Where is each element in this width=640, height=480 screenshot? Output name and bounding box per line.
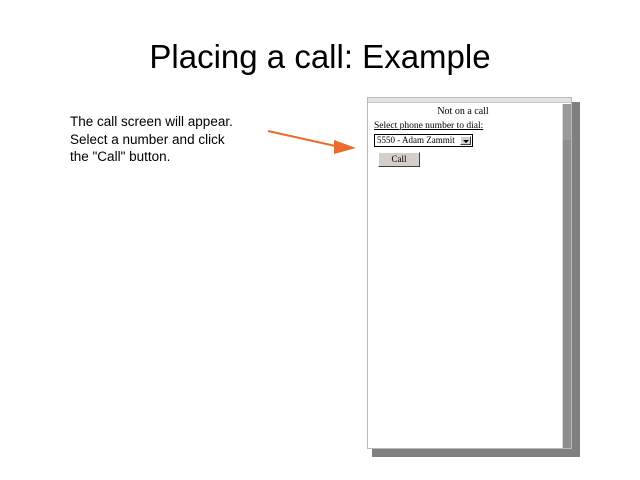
phone-number-select[interactable]: 5550 - Adam Zammit	[374, 134, 473, 147]
page-title: Placing a call: Example	[0, 38, 640, 76]
pointer-arrow-icon	[262, 118, 372, 160]
presentation-slide: Placing a call: Example The call screen …	[0, 0, 640, 480]
screenshot-shadow-right	[572, 102, 580, 457]
call-button[interactable]: Call	[378, 152, 420, 167]
body-text-line-3: the "Call" button.	[70, 148, 270, 166]
vertical-scrollbar[interactable]	[562, 104, 571, 448]
screenshot-shadow-bottom	[372, 449, 577, 457]
scrollbar-thumb[interactable]	[563, 104, 571, 140]
browser-toolbar	[368, 98, 571, 103]
call-page-content: Not on a call Select phone number to dia…	[368, 104, 562, 448]
embedded-app-screenshot: Not on a call Select phone number to dia…	[367, 97, 572, 449]
phone-number-selected-value: 5550 - Adam Zammit	[377, 135, 455, 145]
body-text-line-1: The call screen will appear.	[70, 113, 270, 131]
dial-number-label: Select phone number to dial:	[374, 121, 562, 131]
call-status-text: Not on a call	[368, 106, 562, 117]
body-text-line-2: Select a number and click	[70, 131, 270, 149]
body-text-block: The call screen will appear. Select a nu…	[70, 113, 270, 166]
chevron-down-icon[interactable]	[460, 136, 471, 145]
